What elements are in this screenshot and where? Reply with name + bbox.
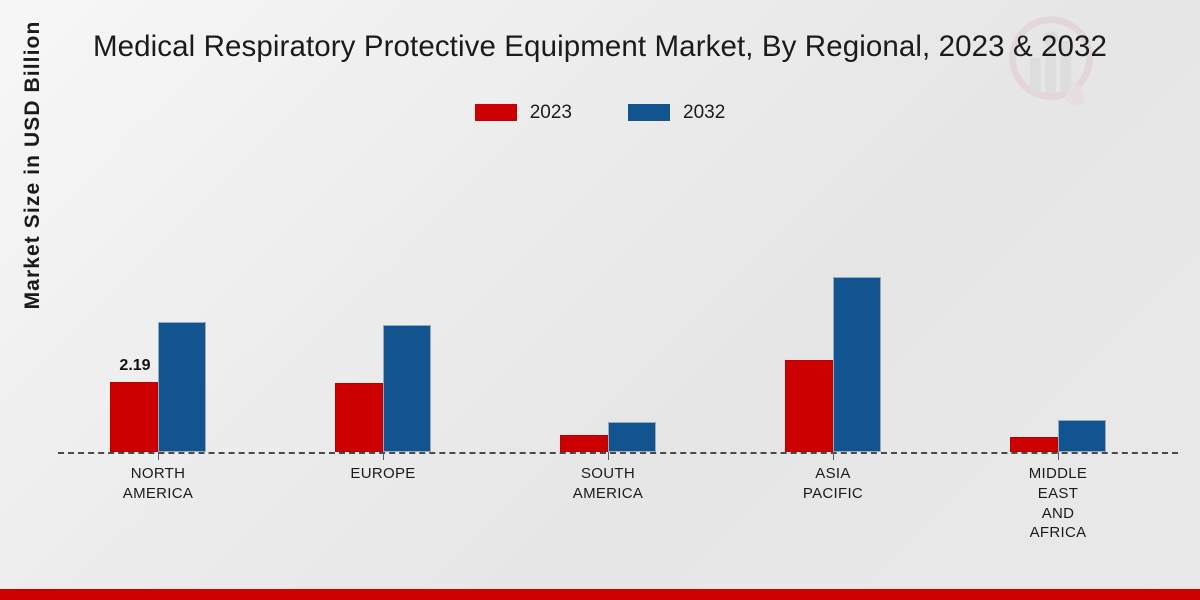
chart-title: Medical Respiratory Protective Equipment… bbox=[0, 30, 1200, 64]
legend-item-2032[interactable]: 2032 bbox=[628, 103, 725, 122]
x-label-asia-pacific: ASIA PACIFIC bbox=[748, 464, 918, 504]
bar-group-north-america: 2.19 bbox=[110, 140, 206, 452]
x-tick-asia-pacific bbox=[833, 452, 834, 460]
bar-value-north-america-2023: 2.19 bbox=[105, 357, 165, 375]
legend-item-2023[interactable]: 2023 bbox=[475, 103, 572, 122]
legend-swatch-2023 bbox=[475, 104, 517, 121]
bar-europe-2032[interactable] bbox=[383, 325, 431, 452]
bar-group-europe bbox=[335, 140, 431, 452]
x-label-line: AND bbox=[973, 504, 1143, 524]
footer-accent-bar bbox=[0, 589, 1200, 600]
y-axis-title: Market Size in USD Billion bbox=[21, 0, 45, 345]
bar-asia-pacific-2023[interactable] bbox=[785, 360, 833, 452]
bar-group-south-america bbox=[560, 140, 656, 452]
bar-middle-east-and-africa-2023[interactable] bbox=[1010, 437, 1058, 452]
x-label-south-america: SOUTH AMERICA bbox=[523, 464, 693, 504]
legend-label-2023: 2023 bbox=[530, 103, 572, 122]
x-label-line: AFRICA bbox=[973, 523, 1143, 543]
x-label-line: EAST bbox=[973, 484, 1143, 504]
bar-asia-pacific-2032[interactable] bbox=[833, 277, 881, 452]
bar-middle-east-and-africa-2032[interactable] bbox=[1058, 420, 1106, 452]
x-label-line: ASIA bbox=[748, 464, 918, 484]
bar-group-asia-pacific bbox=[785, 140, 881, 452]
legend-label-2032: 2032 bbox=[683, 103, 725, 122]
x-label-europe: EUROPE bbox=[298, 464, 468, 484]
x-tick-north-america bbox=[158, 452, 159, 460]
chart-legend: 2023 2032 bbox=[0, 103, 1200, 122]
x-label-middle-east-and-africa: MIDDLE EAST AND AFRICA bbox=[973, 464, 1143, 543]
x-axis-baseline bbox=[58, 452, 1178, 454]
plot-area: 2.19 NORTH AMERICA EUROPE bbox=[58, 140, 1178, 452]
x-label-line: SOUTH bbox=[523, 464, 693, 484]
x-label-north-america: NORTH AMERICA bbox=[73, 464, 243, 504]
x-label-line: AMERICA bbox=[523, 484, 693, 504]
bar-south-america-2023[interactable] bbox=[560, 435, 608, 452]
bar-europe-2023[interactable] bbox=[335, 383, 383, 452]
x-tick-europe bbox=[383, 452, 384, 460]
bar-group-middle-east-and-africa bbox=[1010, 140, 1106, 452]
x-label-line: PACIFIC bbox=[748, 484, 918, 504]
bar-south-america-2032[interactable] bbox=[608, 422, 656, 452]
x-tick-middle-east-and-africa bbox=[1058, 452, 1059, 460]
bar-north-america-2023[interactable]: 2.19 bbox=[110, 382, 158, 452]
chart-container: Medical Respiratory Protective Equipment… bbox=[0, 0, 1200, 600]
legend-swatch-2032 bbox=[628, 104, 670, 121]
x-label-line: EUROPE bbox=[298, 464, 468, 484]
x-label-line: MIDDLE bbox=[973, 464, 1143, 484]
x-label-line: NORTH bbox=[73, 464, 243, 484]
x-tick-south-america bbox=[608, 452, 609, 460]
bar-north-america-2032[interactable] bbox=[158, 322, 206, 452]
x-label-line: AMERICA bbox=[73, 484, 243, 504]
